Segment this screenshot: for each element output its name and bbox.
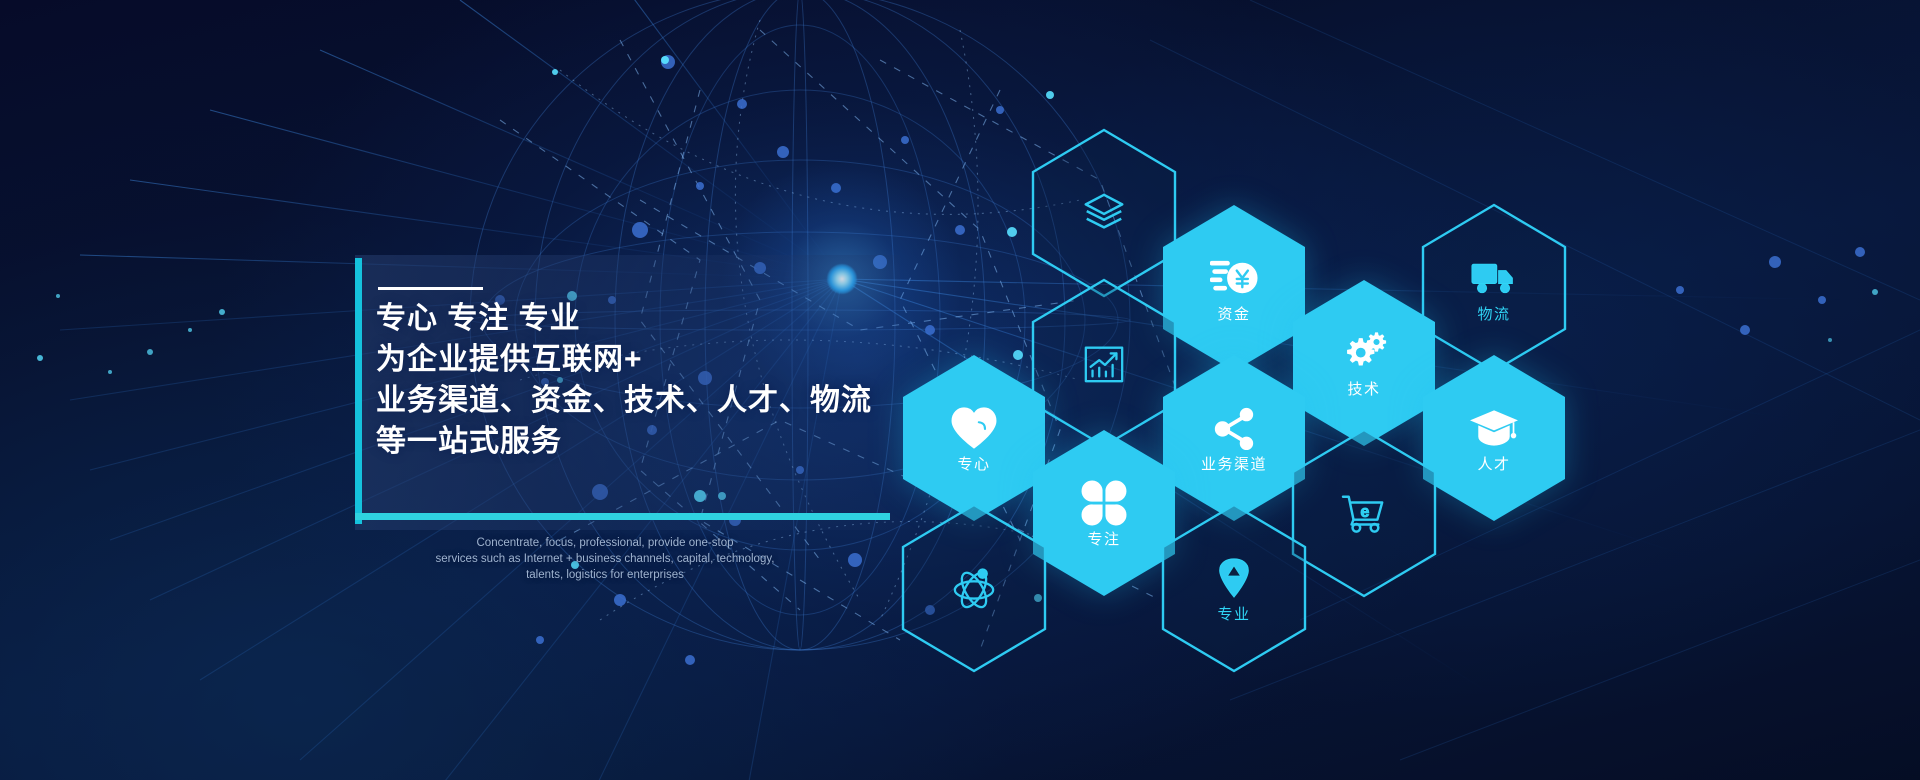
hexagon-tech[interactable]: 技术 — [1290, 278, 1438, 448]
hexagon-content: e — [1290, 428, 1438, 598]
shopping-cart-e-icon: e — [1340, 490, 1388, 536]
hexagon-label: 专业 — [1217, 607, 1250, 622]
hexagon-content: 业务渠道 — [1160, 353, 1308, 523]
hexagon-content: 专心 — [900, 353, 1048, 523]
hexagon-label: 专心 — [957, 457, 990, 472]
hexagon-content — [1030, 128, 1178, 298]
hexagon-atom[interactable] — [900, 503, 1048, 673]
banner-stage: 专心 专注 专业 为企业提供互联网+ 业务渠道、资金、技术、人才、物流 等一站式… — [0, 0, 1920, 780]
atom-icon — [950, 565, 998, 611]
hexagon-label: 物流 — [1477, 307, 1510, 322]
hexagon-focusheart[interactable]: 专心 — [900, 353, 1048, 523]
svg-text:e: e — [1360, 503, 1369, 521]
share-network-icon — [1211, 405, 1257, 451]
hexagon-focus[interactable]: 专注 — [1030, 428, 1178, 598]
hexagon-content — [1030, 278, 1178, 448]
hexagon-label: 技术 — [1347, 382, 1380, 397]
hexagon-channels[interactable]: 业务渠道 — [1160, 353, 1308, 523]
gears-icon — [1341, 330, 1387, 376]
hexagon-label: 人才 — [1477, 457, 1510, 472]
hexagon-content: 专注 — [1030, 428, 1178, 598]
heart-icon — [950, 405, 998, 451]
hexagon-content: 技术 — [1290, 278, 1438, 448]
hexagon-content: 资金 — [1160, 203, 1308, 373]
diamond-gem-icon — [1212, 555, 1256, 601]
hexagon-content: 专业 — [1160, 503, 1308, 673]
hexagon-ecommerce[interactable]: e — [1290, 428, 1438, 598]
hexagon-label: 专注 — [1087, 532, 1120, 547]
growth-chart-icon — [1082, 340, 1126, 386]
hexagon-label: 资金 — [1217, 307, 1250, 322]
hexagon-content: 物流 — [1420, 203, 1568, 373]
hexagon-content — [900, 503, 1048, 673]
hexagon-chart[interactable] — [1030, 278, 1178, 448]
layers-icon — [1081, 190, 1127, 236]
graduation-cap-icon — [1470, 405, 1518, 451]
hexagon-content: 人才 — [1420, 353, 1568, 523]
clover-icon — [1081, 480, 1127, 526]
truck-icon — [1471, 255, 1517, 301]
hexagon-logistics[interactable]: 物流 — [1420, 203, 1568, 373]
hexagon-label: 业务渠道 — [1201, 457, 1267, 472]
hexagon-grid: 资金 物流 技术 专心 业务渠道 人才 — [0, 0, 1920, 780]
hexagon-talent[interactable]: 人才 — [1420, 353, 1568, 523]
money-yen-icon — [1210, 255, 1258, 301]
hexagon-pro[interactable]: 专业 — [1160, 503, 1308, 673]
hexagon-layers[interactable] — [1030, 128, 1178, 298]
hexagon-funds[interactable]: 资金 — [1160, 203, 1308, 373]
